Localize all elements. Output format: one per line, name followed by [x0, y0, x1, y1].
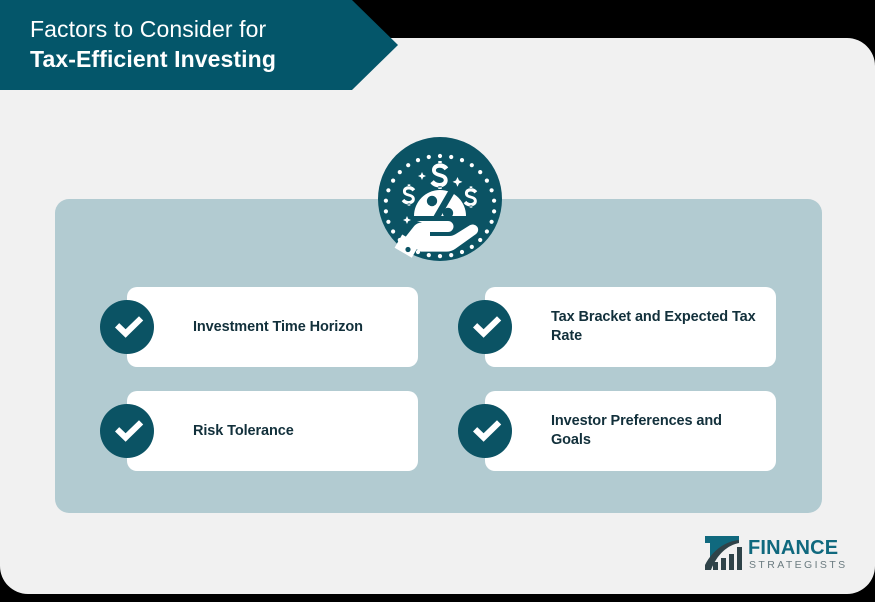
bar-chart-arc-icon [705, 536, 742, 570]
check-icon [458, 300, 512, 354]
infographic-canvas: Factors to Consider for Tax-Efficient In… [0, 0, 875, 602]
logo-secondary-text: STRATEGISTS [749, 559, 848, 571]
check-icon [100, 300, 154, 354]
list-item-label: Investor Preferences and Goals [551, 412, 764, 450]
factors-list: Investment Time Horizon Tax Bracket and … [100, 287, 800, 477]
item-card[interactable]: Tax Bracket and Expected Tax Rate [485, 287, 776, 367]
list-item-risk-tolerance[interactable]: Risk Tolerance [100, 391, 418, 471]
logo-primary-text: FINANCE [748, 537, 838, 559]
list-item-label: Investment Time Horizon [193, 318, 363, 337]
page-title-line-2: Tax-Efficient Investing [30, 44, 398, 75]
item-card[interactable]: Investor Preferences and Goals [485, 391, 776, 471]
list-item-investment-time-horizon[interactable]: Investment Time Horizon [100, 287, 418, 367]
list-item-label: Risk Tolerance [193, 422, 294, 441]
check-icon [100, 404, 154, 458]
list-item-tax-bracket-and-expected-tax-rate[interactable]: Tax Bracket and Expected Tax Rate [458, 287, 776, 367]
check-icon [458, 404, 512, 458]
finance-strategists-logo[interactable]: FINANCE STRATEGISTS [703, 532, 848, 574]
page-title-line-1: Factors to Consider for [30, 14, 398, 44]
tax-savings-hand-icon [378, 137, 502, 261]
item-card[interactable]: Risk Tolerance [127, 391, 418, 471]
header-banner: Factors to Consider for Tax-Efficient In… [0, 0, 398, 90]
item-card[interactable]: Investment Time Horizon [127, 287, 418, 367]
list-item-investor-preferences-and-goals[interactable]: Investor Preferences and Goals [458, 391, 776, 471]
list-item-label: Tax Bracket and Expected Tax Rate [551, 308, 764, 346]
